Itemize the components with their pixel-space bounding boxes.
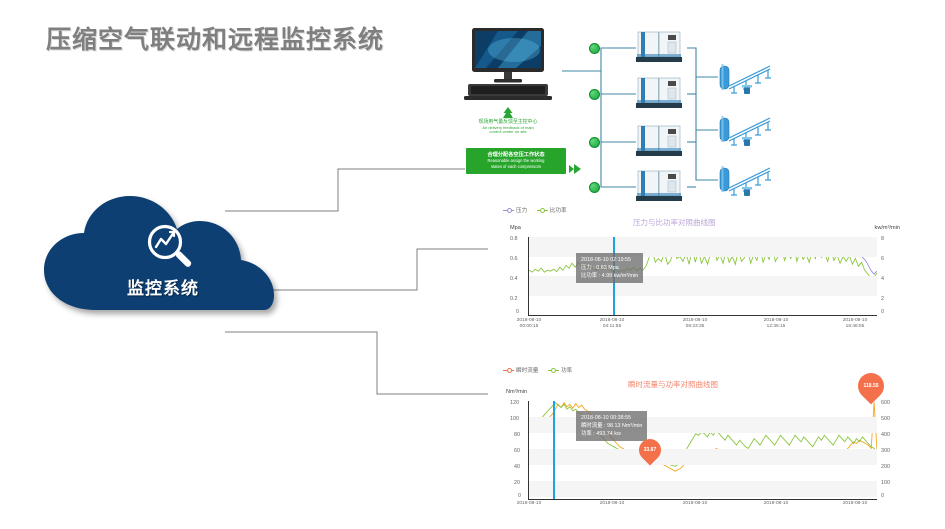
chart2-ytick-l-0: 120 — [510, 400, 519, 406]
xtick-date: 2018-08-10 — [764, 318, 789, 323]
legend-marker-icon — [548, 368, 559, 374]
air-tank-group-1 — [718, 62, 780, 98]
legend-marker-icon — [503, 368, 514, 374]
chart2-legend-label-0: 瞬时流量 — [516, 368, 538, 374]
chart2-ytick-r-3: 300 — [881, 448, 890, 454]
chart2-ytick-r-4: 200 — [881, 464, 890, 470]
chart1-ytick-l-4: 0 — [516, 309, 519, 315]
chart2-min-marker-label: 33.87 — [639, 439, 661, 461]
chart1-ylabel-left: Mpa — [510, 225, 521, 231]
xtick-time: 00:00:15 — [520, 324, 539, 329]
chart2-ytick-l-4: 40 — [514, 464, 520, 470]
plot-band — [529, 449, 877, 465]
chart2-ytick-l-5: 20 — [514, 480, 520, 486]
chart2-legend[interactable]: 瞬时流量 功率 — [503, 366, 580, 374]
chart2-ytick-l-2: 80 — [514, 432, 520, 438]
compressed-air-system-diagram: 现场用气量反馈至主控中心 Air delivery feedback of ma… — [440, 22, 945, 202]
chart2-xtick-0: 2018-08-10 — [500, 501, 558, 507]
plot-band — [529, 481, 877, 497]
chart2-xtick-4: 2018-08-10 — [826, 501, 884, 507]
cloud-label: 监控系统 — [38, 274, 288, 299]
chart2-tooltip-row2: 功率 : 493.74 kw — [581, 430, 642, 438]
chart1-xtick-2: 2018-08-10 08:23:35 — [666, 318, 724, 330]
chart2-title: 瞬时流量与功率对照曲线图 — [628, 379, 718, 390]
chart2-min-marker-pin[interactable]: 33.87 — [634, 434, 665, 465]
node-dot-3 — [589, 137, 600, 148]
xtick-time: 12:35:15 — [767, 324, 786, 329]
chart2-xtick-1: 2018-08-10 — [583, 501, 641, 507]
chart2-max-marker-label: 118.55 — [858, 373, 884, 399]
xtick-date: 2018-08-10 — [843, 318, 868, 323]
xtick-time: 16:46:55 — [846, 324, 865, 329]
compressor-unit-2 — [636, 76, 682, 110]
chart2-ytick-r-1: 500 — [881, 416, 890, 422]
chart1-ytick-l-0: 0.8 — [510, 236, 518, 242]
chart2-ytick-r-2: 400 — [881, 432, 890, 438]
chart2-tooltip-row1: 瞬时流量 : 98.13 Nm³/min — [581, 422, 642, 430]
chart2-tooltip: 2018-08-10 00:38:55 瞬时流量 : 98.13 Nm³/min… — [576, 411, 647, 441]
air-tank-group-2 — [718, 114, 780, 150]
compressor-unit-3 — [636, 124, 682, 158]
xtick-time: 04:11:55 — [603, 324, 621, 329]
chart1-title: 压力与比功率对照曲线图 — [633, 217, 716, 228]
legend-marker-icon — [503, 208, 514, 214]
chart1-tooltip-row1: 压力 : 0.63 Mpa — [581, 264, 638, 272]
chart1-ylabel-right: kw/m³/min — [875, 225, 900, 231]
chart1-legend-item-1[interactable]: 比功率 — [537, 206, 567, 214]
compressor-unit-4 — [636, 169, 682, 203]
chart1-legend[interactable]: 压力 比功率 — [503, 206, 575, 214]
chart1-ytick-l-3: 0.2 — [510, 296, 518, 302]
page-title: 压缩空气联动和远程监控系统 — [46, 20, 384, 56]
xtick-date: 2018-08-10 — [683, 318, 708, 323]
flow-power-chart[interactable]: 瞬时流量 功率 瞬时流量与功率对照曲线图 Nm³/min 120 100 80 … — [488, 363, 902, 513]
chart1-ytick-l-1: 0.6 — [510, 256, 518, 262]
chart2-ytick-l-1: 100 — [510, 416, 519, 422]
chart1-legend-item-0[interactable]: 压力 — [503, 206, 527, 214]
chart2-ytick-r-5: 100 — [881, 480, 890, 486]
chart1-ytick-r-2: 4 — [881, 276, 884, 282]
xtick-time: 08:23:35 — [686, 324, 705, 329]
chart2-legend-label-1: 功率 — [561, 368, 572, 374]
chart1-ytick-r-1: 6 — [881, 256, 884, 262]
chart2-tooltip-timestamp: 2018-08-10 00:38:55 — [581, 414, 642, 422]
chart1-legend-label-0: 压力 — [516, 208, 527, 214]
chart1-ytick-r-0: 8 — [881, 236, 884, 242]
chart2-legend-item-1[interactable]: 功率 — [548, 366, 572, 374]
chart1-xtick-0: 2018-08-10 00:00:15 — [500, 318, 558, 330]
chart2-cursor-line[interactable] — [553, 401, 555, 499]
chart2-max-marker-pin[interactable]: 118.55 — [853, 368, 890, 405]
chart1-xtick-1: 2018-08-10 04:11:55 — [583, 318, 641, 330]
compressor-unit-1 — [636, 30, 682, 64]
chart2-legend-item-0[interactable]: 瞬时流量 — [503, 366, 538, 374]
chart-magnifier-icon — [143, 220, 197, 274]
chart1-ytick-l-2: 0.4 — [510, 276, 518, 282]
chart1-tooltip-timestamp: 2018-08-10 02:19:55 — [581, 256, 638, 264]
monitoring-system-cloud[interactable]: 监控系统 — [38, 192, 288, 322]
chart2-xtick-2: 2018-08-10 — [666, 501, 724, 507]
chart2-ylabel-left: Nm³/min — [506, 389, 527, 395]
xtick-date: 2018-08-10 — [517, 318, 542, 323]
chart1-tooltip: 2018-08-10 02:19:55 压力 : 0.63 Mpa 比功率 : … — [576, 253, 643, 283]
legend-marker-icon — [537, 208, 548, 214]
chart1-xtick-4: 2018-08-10 16:46:55 — [826, 318, 884, 330]
chart2-ytick-l-3: 60 — [514, 448, 520, 454]
chart1-ytick-r-4: 0 — [881, 309, 884, 315]
node-dot-1 — [589, 43, 600, 54]
chart2-xtick-3: 2018-08-10 — [747, 501, 805, 507]
chart1-ytick-r-3: 2 — [881, 296, 884, 302]
chart2-ytick-r-0: 600 — [881, 400, 890, 406]
node-dot-4 — [589, 182, 600, 193]
chart2-ytick-r-6: 0 — [881, 493, 884, 499]
chart1-legend-label-1: 比功率 — [550, 208, 567, 214]
chart2-ytick-l-6: 0 — [518, 493, 521, 499]
chart1-xtick-3: 2018-08-10 12:35:15 — [747, 318, 805, 330]
xtick-date: 2018-08-10 — [600, 318, 625, 323]
up-arrow-icon — [501, 106, 515, 120]
connector-line-bottom — [225, 328, 525, 398]
pressure-power-chart[interactable]: 压力 比功率 压力与比功率对照曲线图 Mpa kw/m³/min 0.8 0.6… — [488, 203, 902, 331]
air-tank-group-3 — [718, 164, 780, 200]
chart1-tooltip-row2: 比功率 : 4.99 kw/m³/min — [581, 272, 638, 280]
node-dot-2 — [589, 89, 600, 100]
